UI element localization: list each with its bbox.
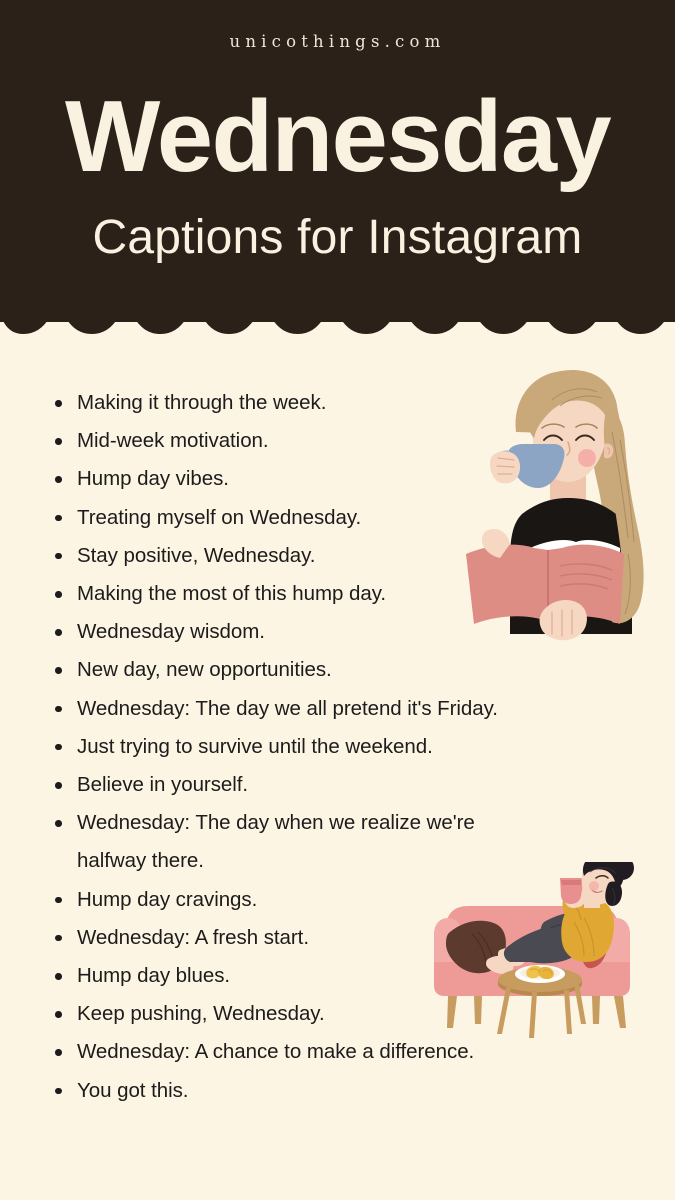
scalloped-divider [0, 292, 675, 340]
list-item: Treating myself on Wednesday. [0, 499, 675, 537]
page-subtitle: Captions for Instagram [0, 213, 675, 263]
list-item: Hump day vibes. [0, 460, 675, 498]
captions-list: Making it through the week. Mid-week mot… [0, 384, 675, 1110]
list-item: New day, new opportunities. [0, 651, 675, 689]
list-item: Wednesday: A fresh start. [0, 919, 675, 957]
list-item: Wednesday: The day we all pretend it's F… [0, 690, 675, 728]
list-item: Making the most of this hump day. [0, 575, 675, 613]
list-item: Believe in yourself. [0, 766, 675, 804]
site-url: unicothings.com [0, 32, 675, 51]
list-item: Hump day cravings. [0, 881, 675, 919]
list-item: Just trying to survive until the weekend… [0, 728, 675, 766]
list-item: Wednesday: The day when we realize we're… [0, 804, 675, 880]
poster-canvas: unicothings.com Wednesday Captions for I… [0, 0, 675, 1200]
poster-header: unicothings.com Wednesday Captions for I… [0, 0, 675, 322]
page-title: Wednesday [0, 86, 675, 189]
list-item: Hump day blues. [0, 957, 675, 995]
list-item: Stay positive, Wednesday. [0, 537, 675, 575]
list-item: Wednesday: A chance to make a difference… [0, 1033, 675, 1071]
list-item: Keep pushing, Wednesday. [0, 995, 675, 1033]
list-item: Making it through the week. [0, 384, 675, 422]
list-item: Wednesday wisdom. [0, 613, 675, 651]
list-item: You got this. [0, 1072, 675, 1110]
list-item: Mid-week motivation. [0, 422, 675, 460]
